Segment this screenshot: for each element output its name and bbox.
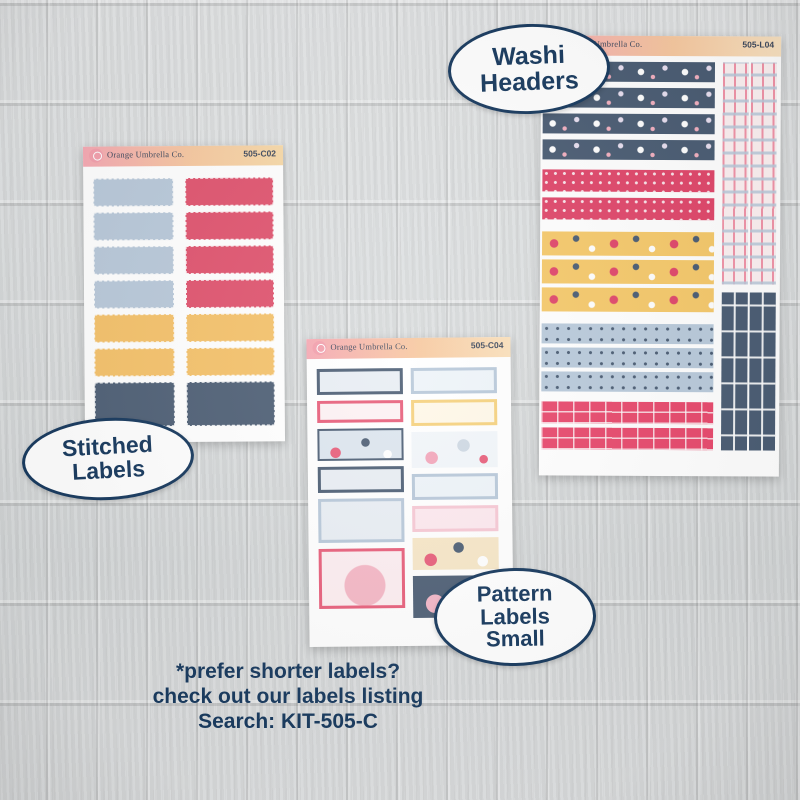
- vignette-overlay: [0, 0, 800, 800]
- product-photo: Orange Umbrella Co. 505-C02 Orange Umbre…: [0, 0, 800, 800]
